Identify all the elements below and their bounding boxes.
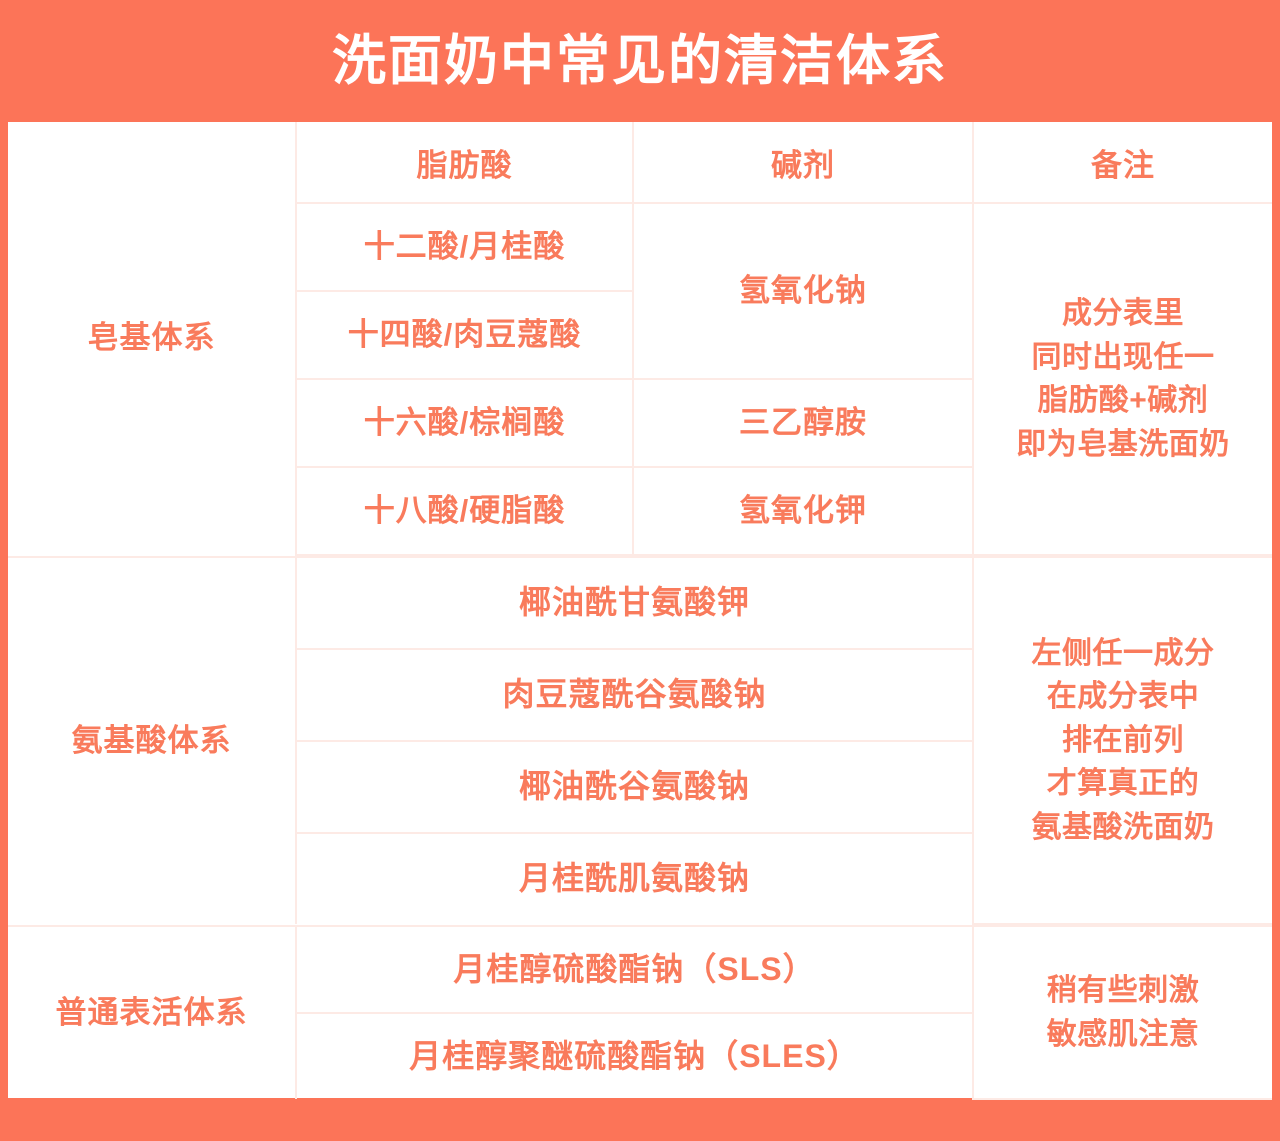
column-header-alkali: 碱剂 <box>633 122 973 203</box>
note-text-amino-acid: 左侧任一成分 在成分表中 排在前列 才算真正的 氨基酸洗面奶 <box>974 632 1272 850</box>
cleansing-systems-table: 皂基体系 脂肪酸 碱剂 备注 十二酸/月桂酸 <box>8 122 1272 1098</box>
category-cell-soap-base: 皂基体系 <box>8 122 296 555</box>
title-bar: 洗面奶中常见的清洁体系 <box>0 0 1280 122</box>
amino-ingredient-cell-2: 肉豆蔻酰谷氨酸钠 <box>296 649 973 741</box>
category-cell-amino-acid: 氨基酸体系 <box>8 557 296 924</box>
alkali-cell-2: 三乙醇胺 <box>633 379 973 467</box>
table-row: 氨基酸体系 椰油酰甘氨酸钾 左侧任一成分 在成分表中 排在前列 才算真正的 氨基… <box>8 557 1272 649</box>
fatty-acid-cell-2: 十四酸/肉豆蔻酸 <box>296 291 633 379</box>
surfactant-ingredient-cell-2: 月桂醇聚醚硫酸酯钠（SLES） <box>296 1013 973 1099</box>
category-label: 普通表活体系 <box>8 994 295 1033</box>
fatty-acid-cell-4: 十八酸/硬脂酸 <box>296 467 633 555</box>
fatty-acid-cell-3: 十六酸/棕榈酸 <box>296 379 633 467</box>
note-cell-amino-acid: 左侧任一成分 在成分表中 排在前列 才算真正的 氨基酸洗面奶 <box>973 557 1272 924</box>
note-cell-soap-base: 成分表里 同时出现任一 脂肪酸+碱剂 即为皂基洗面奶 <box>973 203 1272 555</box>
amino-ingredient-cell-3: 椰油酰谷氨酸钠 <box>296 741 973 833</box>
amino-ingredient-cell-4: 月桂酰肌氨酸钠 <box>296 833 973 924</box>
note-text-common-surfactant: 稍有些刺激 敏感肌注意 <box>974 969 1272 1056</box>
surfactant-ingredient-cell-1: 月桂醇硫酸酯钠（SLS） <box>296 926 973 1013</box>
table-row: 普通表活体系 月桂醇硫酸酯钠（SLS） 稍有些刺激 敏感肌注意 <box>8 926 1272 1013</box>
alkali-cell-1: 氢氧化钠 <box>633 203 973 379</box>
amino-ingredient-cell-1: 椰油酰甘氨酸钾 <box>296 557 973 649</box>
section-soap-base: 皂基体系 脂肪酸 碱剂 备注 十二酸/月桂酸 <box>8 122 1272 556</box>
column-header-note: 备注 <box>973 122 1272 203</box>
section-common-surfactant: 普通表活体系 月桂醇硫酸酯钠（SLS） 稍有些刺激 敏感肌注意 月桂醇聚醚硫 <box>8 925 1272 1100</box>
category-cell-common-surfactant: 普通表活体系 <box>8 926 296 1099</box>
note-text-soap-base: 成分表里 同时出现任一 脂肪酸+碱剂 即为皂基洗面奶 <box>974 292 1272 466</box>
column-header-fatty-acid: 脂肪酸 <box>296 122 633 203</box>
category-label: 氨基酸体系 <box>8 722 295 761</box>
category-label: 皂基体系 <box>8 319 295 358</box>
section-amino-acid: 氨基酸体系 椰油酰甘氨酸钾 左侧任一成分 在成分表中 排在前列 才算真正的 氨基… <box>8 556 1272 925</box>
note-cell-common-surfactant: 稍有些刺激 敏感肌注意 <box>973 926 1272 1099</box>
fatty-acid-cell-1: 十二酸/月桂酸 <box>296 203 633 291</box>
infographic-page: 洗面奶中常见的清洁体系 皂基体系 脂肪酸 碱剂 <box>0 0 1280 1141</box>
page-title: 洗面奶中常见的清洁体系 <box>332 34 948 88</box>
footer-strip <box>0 1098 1280 1141</box>
alkali-cell-3: 氢氧化钾 <box>633 467 973 555</box>
table-header-row: 皂基体系 脂肪酸 碱剂 备注 <box>8 122 1272 203</box>
